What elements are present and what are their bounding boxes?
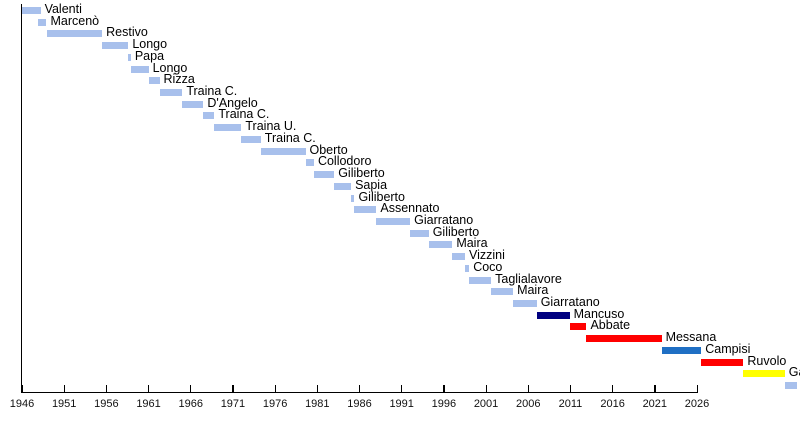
timeline-bar[interactable] xyxy=(38,19,46,26)
x-axis-tick-label: 1991 xyxy=(382,398,422,410)
timeline-bar[interactable] xyxy=(149,77,160,84)
timeline-bar[interactable] xyxy=(429,241,453,248)
timeline-bar[interactable] xyxy=(22,7,41,14)
timeline-bar[interactable] xyxy=(131,66,149,73)
timeline-bar[interactable] xyxy=(376,218,410,225)
x-axis-tick xyxy=(612,385,613,393)
timeline-bar[interactable] xyxy=(570,323,587,330)
x-axis-tick xyxy=(570,385,571,393)
timeline-bar[interactable] xyxy=(452,253,465,260)
timeline-bar[interactable] xyxy=(214,124,241,131)
x-axis-tick-label: 1976 xyxy=(255,398,295,410)
x-axis-tick-label: 2021 xyxy=(635,398,675,410)
timeline-bar[interactable] xyxy=(513,300,537,307)
x-axis-tick xyxy=(359,385,360,393)
x-axis-tick-label: 1971 xyxy=(213,398,253,410)
timeline-bar[interactable] xyxy=(261,148,306,155)
x-axis-tick xyxy=(486,385,487,393)
x-axis-tick-label: 1946 xyxy=(2,398,42,410)
timeline-bar[interactable] xyxy=(160,89,183,96)
x-axis-tick-label: 2001 xyxy=(466,398,506,410)
timeline-bar[interactable] xyxy=(465,265,469,272)
timeline-bar[interactable] xyxy=(351,195,354,202)
timeline-bar-label: Traina C. xyxy=(265,132,316,145)
gantt-timeline-chart: 1946195119561961196619711976198119861991… xyxy=(0,0,800,444)
x-axis-tick-label: 2011 xyxy=(550,398,590,410)
timeline-bar[interactable] xyxy=(469,277,491,284)
x-axis-tick xyxy=(106,385,107,393)
timeline-bar[interactable] xyxy=(334,183,351,190)
timeline-bar[interactable] xyxy=(701,359,743,366)
x-axis-tick-label: 1996 xyxy=(424,398,464,410)
x-axis-tick xyxy=(148,385,149,393)
plot-area: 1946195119561961196619711976198119861991… xyxy=(0,0,800,392)
x-axis-tick xyxy=(64,385,65,393)
timeline-bar-label: Ruvolo xyxy=(747,355,786,368)
x-axis-tick xyxy=(190,385,191,393)
timeline-bar[interactable] xyxy=(354,206,376,213)
x-axis-tick xyxy=(654,385,655,393)
timeline-bar[interactable] xyxy=(102,42,128,49)
x-axis-tick xyxy=(401,385,402,393)
timeline-bar[interactable] xyxy=(203,112,214,119)
timeline-bar[interactable] xyxy=(586,335,661,342)
timeline-bar[interactable] xyxy=(785,382,797,389)
x-axis-tick xyxy=(443,385,444,393)
x-axis-tick xyxy=(697,385,698,393)
x-axis-tick-label: 1981 xyxy=(297,398,337,410)
x-axis-tick xyxy=(317,385,318,393)
x-axis-tick-label: 1966 xyxy=(171,398,211,410)
timeline-bar[interactable] xyxy=(47,30,102,37)
x-axis-tick xyxy=(528,385,529,393)
x-axis-tick-label: 1956 xyxy=(86,398,126,410)
x-axis-tick xyxy=(232,385,233,393)
timeline-bar[interactable] xyxy=(128,54,131,61)
timeline-bar-label: Gambino xyxy=(789,366,800,379)
x-axis-tick-label: 1986 xyxy=(340,398,380,410)
timeline-bar-label: Abbate xyxy=(590,319,630,332)
timeline-bar[interactable] xyxy=(410,230,429,237)
y-axis-line xyxy=(21,4,22,392)
x-axis-tick-label: 2006 xyxy=(508,398,548,410)
timeline-bar-label: Campisi xyxy=(705,343,750,356)
timeline-bar[interactable] xyxy=(537,312,570,319)
timeline-bar-label: Marcenò xyxy=(50,15,99,28)
x-axis-tick xyxy=(275,385,276,393)
timeline-bar[interactable] xyxy=(662,347,702,354)
timeline-bar[interactable] xyxy=(743,370,784,377)
timeline-bar[interactable] xyxy=(306,159,314,166)
x-axis-tick-label: 2016 xyxy=(593,398,633,410)
timeline-bar[interactable] xyxy=(314,171,334,178)
x-axis-tick-label: 1951 xyxy=(44,398,84,410)
x-axis-tick xyxy=(22,385,23,393)
x-axis-tick-label: 2026 xyxy=(677,398,717,410)
x-axis-tick-label: 1961 xyxy=(129,398,169,410)
timeline-bar[interactable] xyxy=(241,136,260,143)
timeline-bar[interactable] xyxy=(491,288,513,295)
timeline-bar[interactable] xyxy=(182,101,203,108)
